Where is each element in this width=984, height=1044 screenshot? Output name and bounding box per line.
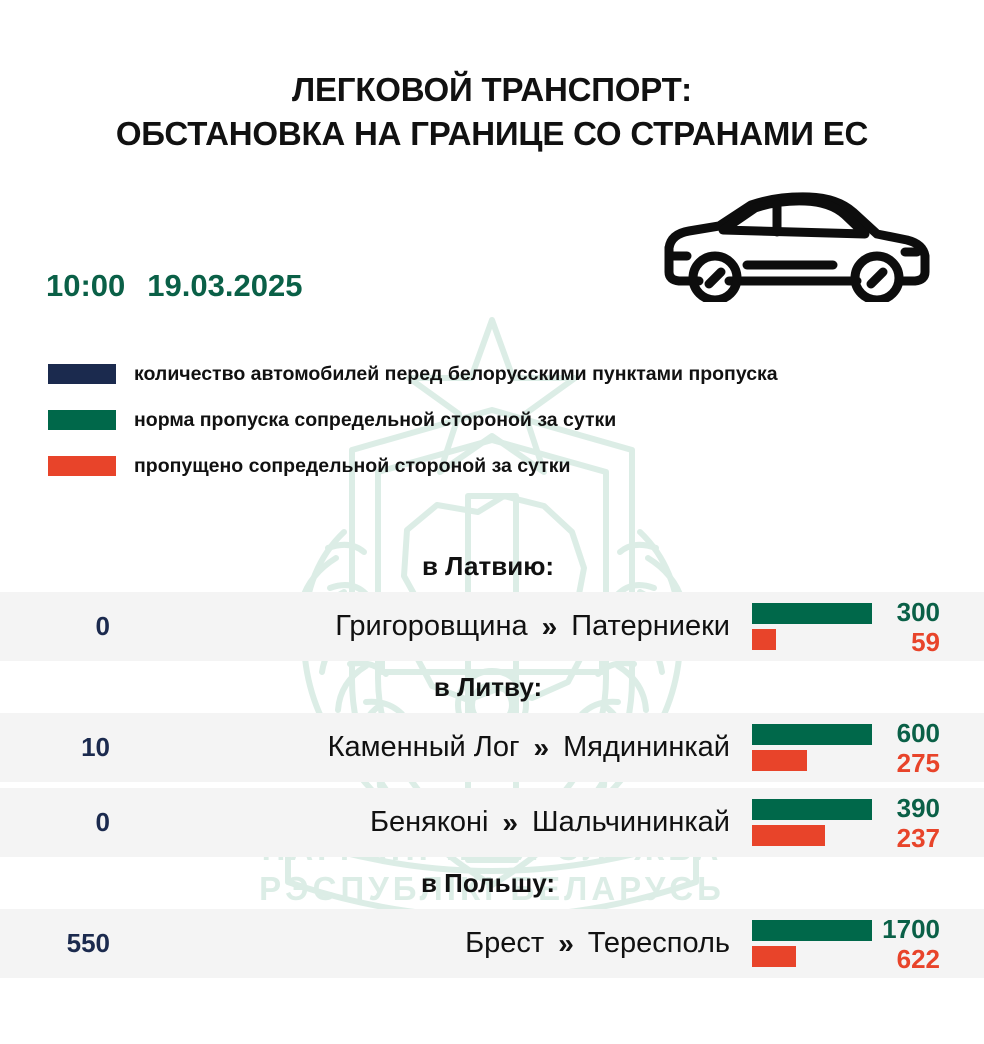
timestamp-time: 10:00 [46, 268, 125, 303]
timestamp-date: 19.03.2025 [147, 268, 302, 303]
checkpoint-to: Шальчининкай [532, 806, 730, 839]
route: Каменный Лог » Мядининкай [110, 731, 742, 764]
checkpoint-to: Патерниеки [571, 610, 730, 643]
timestamp: 10:0019.03.2025 [46, 268, 302, 304]
bar-norm [752, 920, 872, 941]
legend-swatch-green [48, 410, 116, 430]
section-header-poland: в Польшу: [0, 857, 984, 909]
route: Брест » Тересполь [110, 927, 742, 960]
checkpoint-to: Тересполь [588, 927, 730, 960]
checkpoint-from: Григоровщина [335, 610, 527, 643]
queue-count: 10 [0, 732, 110, 763]
bar-group [742, 724, 872, 771]
bar-passed [752, 825, 825, 846]
value-passed: 622 [872, 946, 940, 972]
bar-group [742, 603, 872, 650]
checkpoint-from: Каменный Лог [328, 731, 520, 764]
queue-count: 0 [0, 611, 110, 642]
bar-group [742, 920, 872, 967]
title-line-1: ЛЕГКОВОЙ ТРАНСПОРТ: [0, 68, 984, 112]
value-group: 1700 622 [872, 916, 984, 972]
infographic-root: ПАГРАНІЧНАЯ СЛУЖБА РЭСПУБЛІКІ БЕЛАРУСЬ Л… [0, 0, 984, 1044]
table-row: 550 Брест » Тересполь 1700 622 [0, 909, 984, 978]
section-header-latvia: в Латвию: [0, 540, 984, 592]
value-group: 300 59 [872, 599, 984, 655]
chevron-right-icon: » [558, 930, 574, 958]
value-norm: 600 [872, 720, 940, 746]
section-header-lithuania: в Литву: [0, 661, 984, 713]
route: Григоровщина » Патерниеки [110, 610, 742, 643]
value-group: 600 275 [872, 720, 984, 776]
bar-norm [752, 724, 872, 745]
title-line-2: ОБСТАНОВКА НА ГРАНИЦЕ СО СТРАНАМИ ЕС [0, 112, 984, 156]
legend-item-norm: норма пропуска сопредельной стороной за … [48, 402, 778, 438]
border-crossing-sections: в Латвию: 0 Григоровщина » Патерниеки 30… [0, 540, 984, 978]
legend-label-queue: количество автомобилей перед белорусским… [134, 363, 778, 386]
value-group: 390 237 [872, 795, 984, 851]
legend-swatch-navy [48, 364, 116, 384]
checkpoint-from: Брест [465, 927, 544, 960]
value-norm: 1700 [872, 916, 940, 942]
bar-norm [752, 603, 872, 624]
value-passed: 59 [872, 629, 940, 655]
legend-swatch-red [48, 456, 116, 476]
chevron-right-icon: » [534, 734, 550, 762]
bar-norm [752, 799, 872, 820]
page-title: ЛЕГКОВОЙ ТРАНСПОРТ: ОБСТАНОВКА НА ГРАНИЦ… [0, 68, 984, 156]
legend-label-norm: норма пропуска сопредельной стороной за … [134, 409, 616, 432]
table-row: 0 Беняконі » Шальчининкай 390 237 [0, 788, 984, 857]
legend: количество автомобилей перед белорусским… [48, 356, 778, 484]
bar-passed [752, 629, 776, 650]
legend-item-queue: количество автомобилей перед белорусским… [48, 356, 778, 392]
bar-group [742, 799, 872, 846]
value-passed: 237 [872, 825, 940, 851]
checkpoint-to: Мядининкай [563, 731, 730, 764]
checkpoint-from: Беняконі [370, 806, 488, 839]
legend-label-passed: пропущено сопредельной стороной за сутки [134, 455, 571, 478]
value-norm: 300 [872, 599, 940, 625]
value-passed: 275 [872, 750, 940, 776]
table-row: 0 Григоровщина » Патерниеки 300 59 [0, 592, 984, 661]
queue-count: 550 [0, 928, 110, 959]
route: Беняконі » Шальчининкай [110, 806, 742, 839]
chevron-right-icon: » [542, 613, 558, 641]
queue-count: 0 [0, 807, 110, 838]
bar-passed [752, 750, 807, 771]
car-icon [655, 190, 935, 302]
chevron-right-icon: » [502, 809, 518, 837]
table-row: 10 Каменный Лог » Мядининкай 600 275 [0, 713, 984, 782]
bar-passed [752, 946, 796, 967]
legend-item-passed: пропущено сопредельной стороной за сутки [48, 448, 778, 484]
value-norm: 390 [872, 795, 940, 821]
